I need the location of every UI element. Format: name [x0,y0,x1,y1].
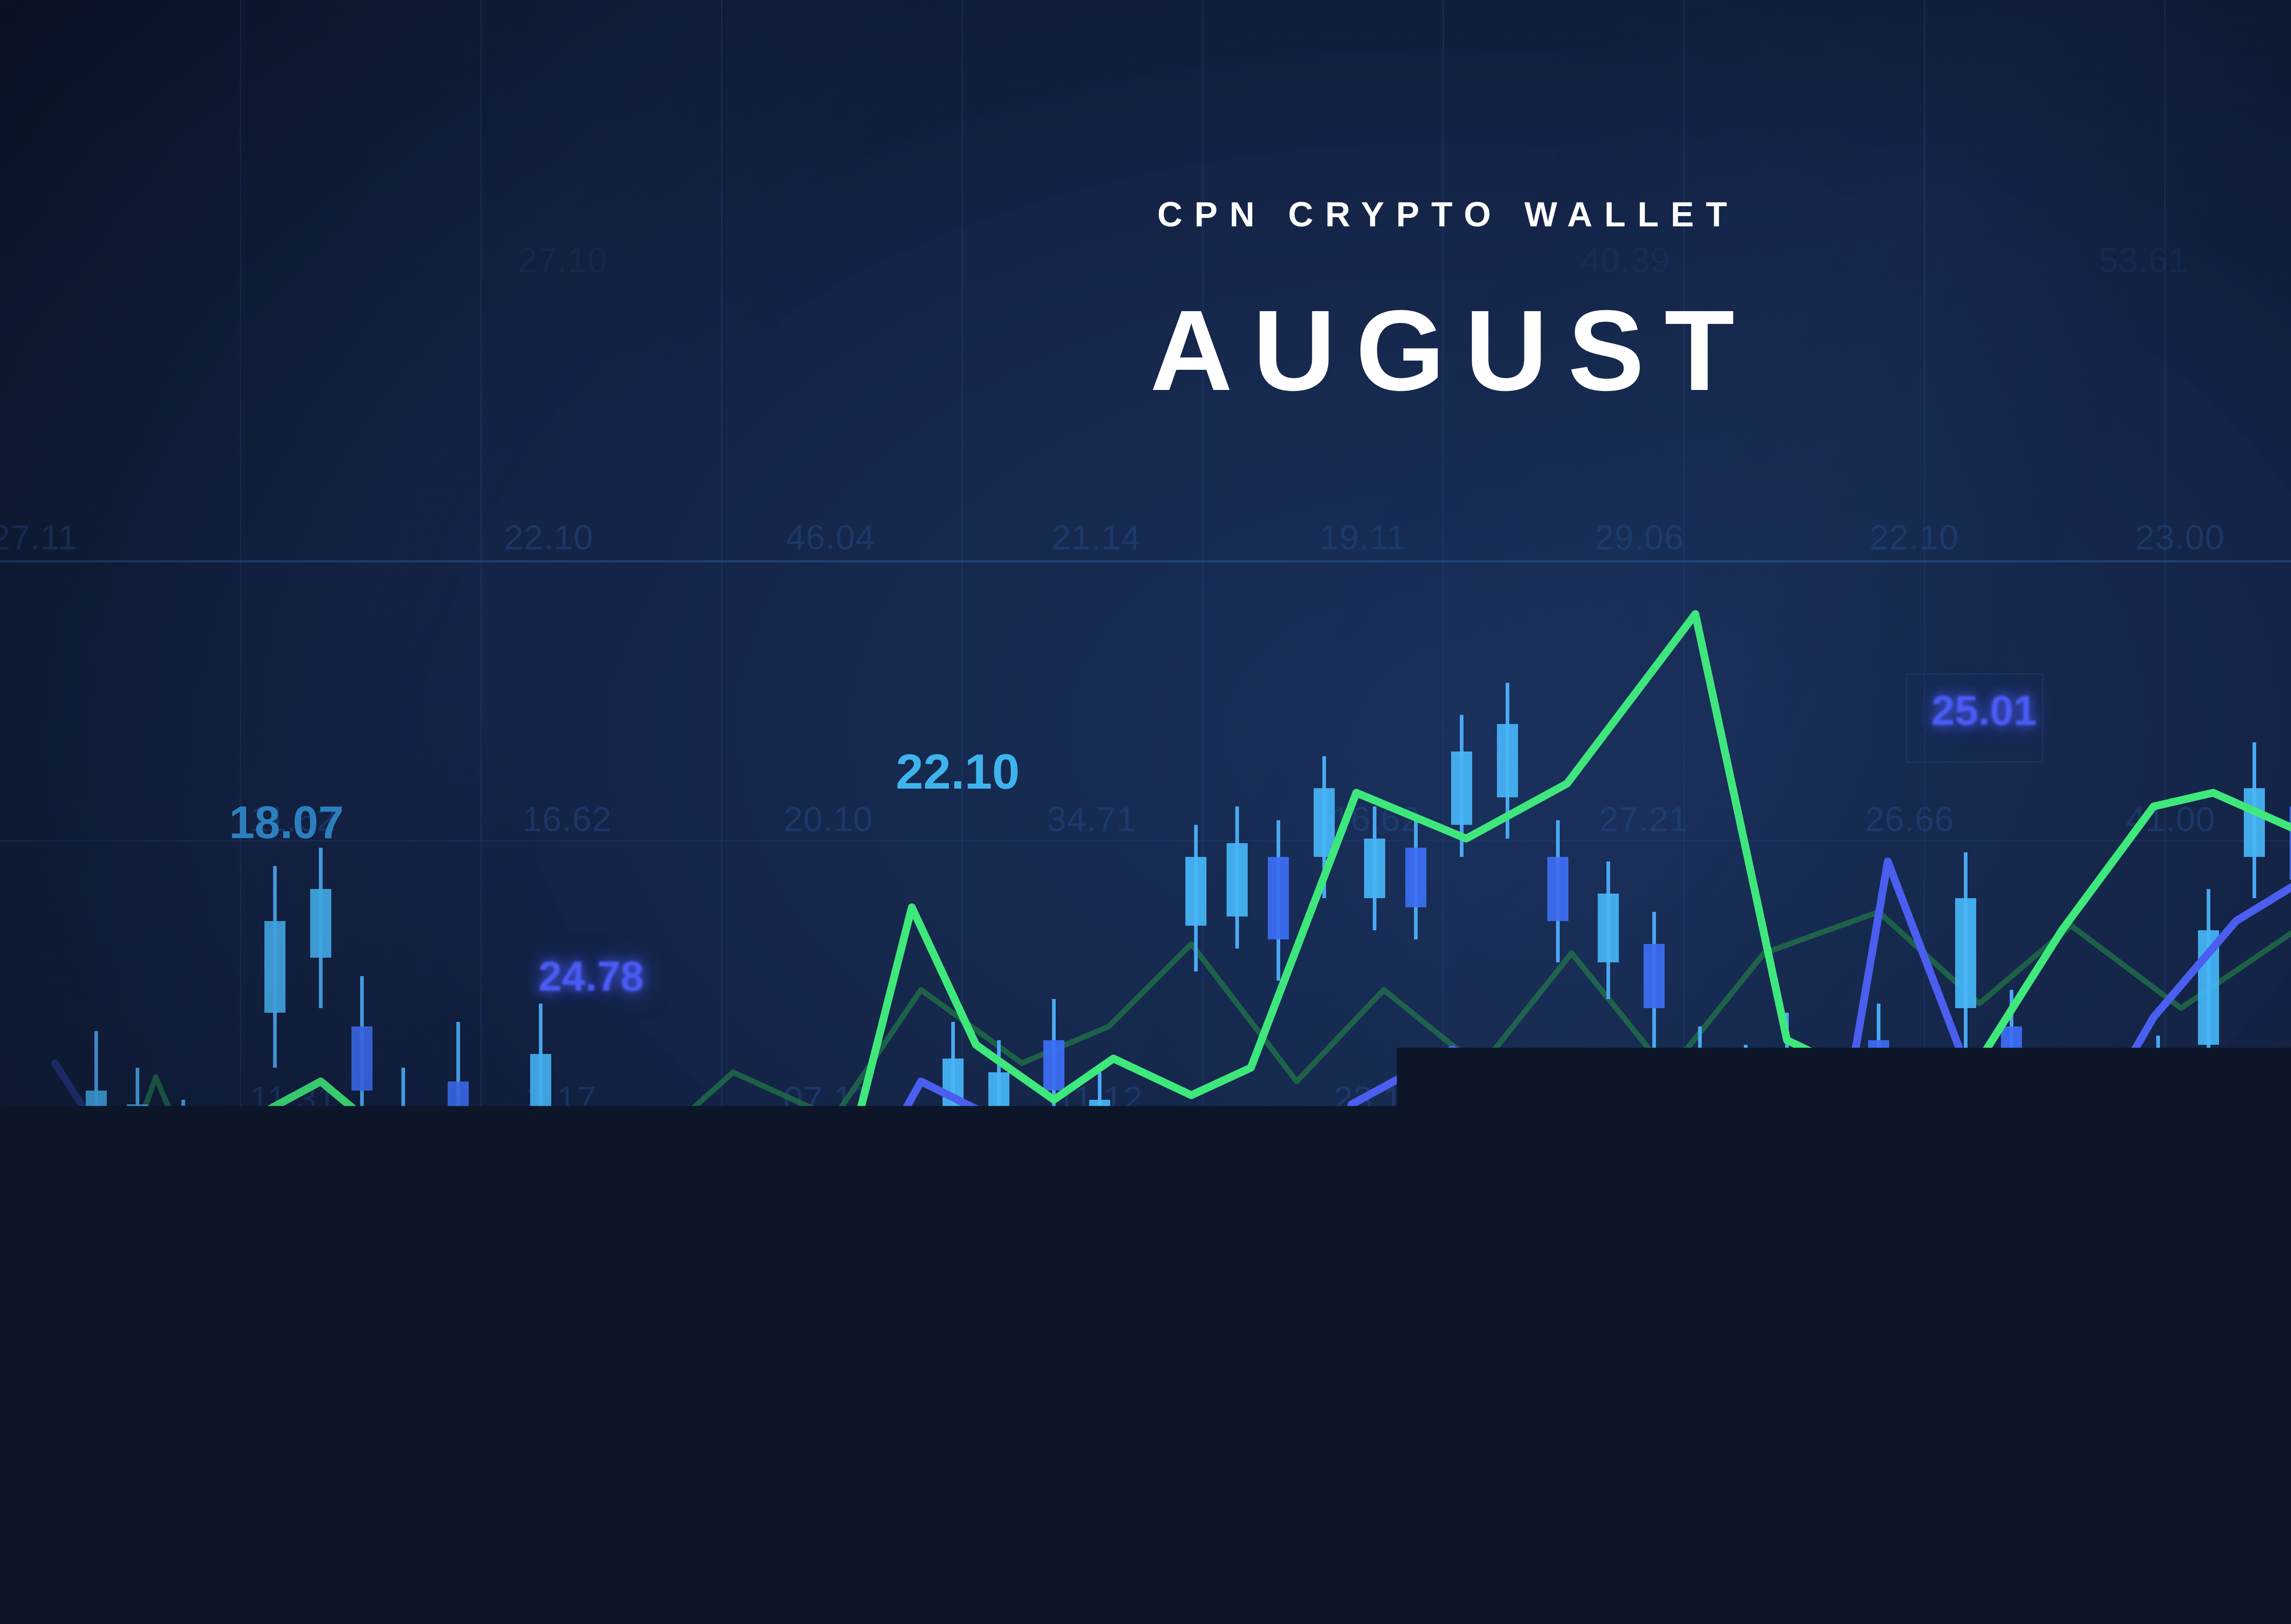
kicker-text: CPN CRYPTO WALLET [0,195,2291,235]
price-label-24-78: 24.78 [538,955,644,998]
price-label-25-01-bottom: 25.01 [2060,1260,2151,1297]
crypto-chart-banner: 27.11 22.10 46.04 21.14 19.11 29.06 22.1… [0,0,2291,1624]
price-label-18-07: 18.07 [229,800,344,845]
page-title: AUGUST [0,293,2291,408]
price-label-25-01-top: 25.01 [1931,690,2037,732]
price-label-22-10: 22.10 [896,747,1019,796]
price-label-18-75: 18.75 [1255,1400,1384,1451]
